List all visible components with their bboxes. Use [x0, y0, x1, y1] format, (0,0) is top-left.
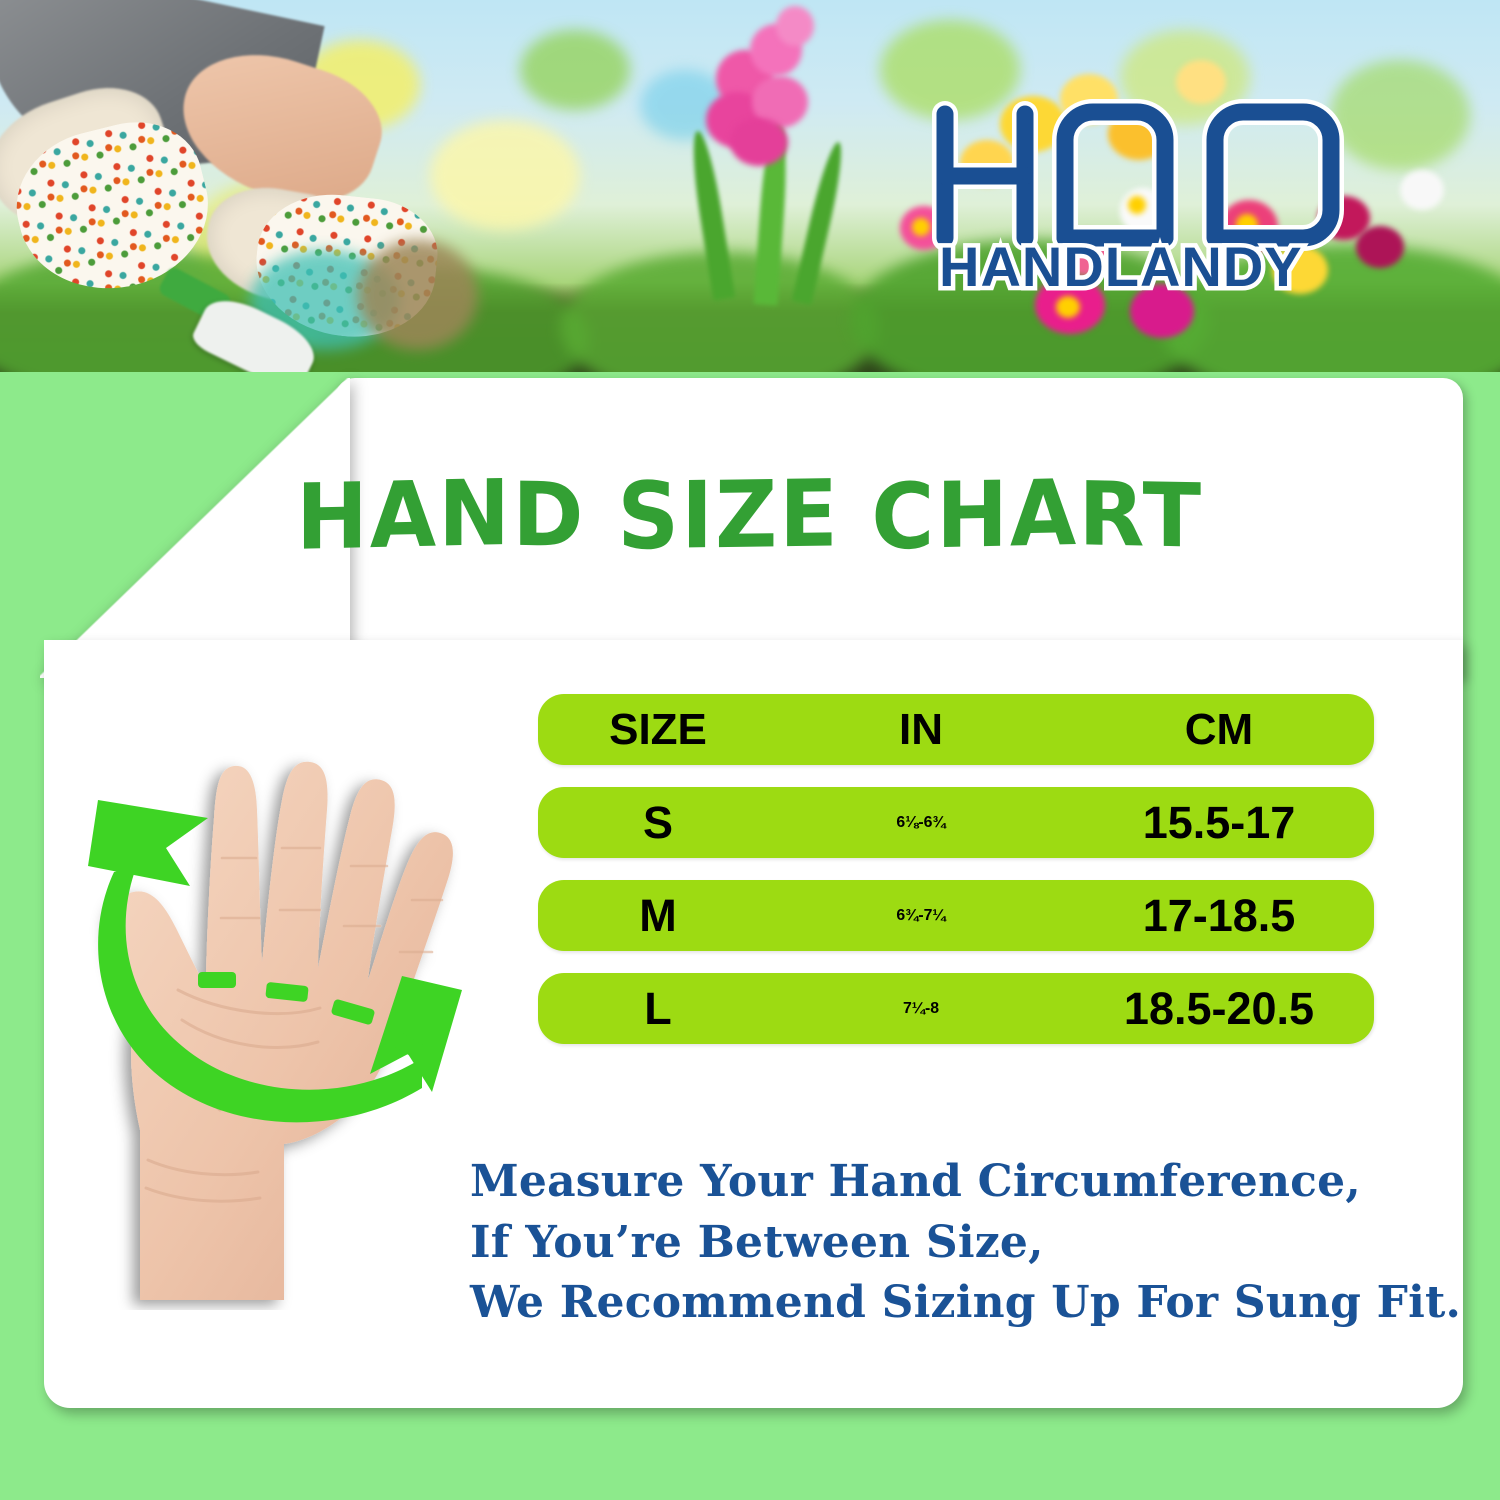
column-header-size: SIZE	[538, 708, 778, 752]
cell-size: L	[538, 986, 778, 1031]
cell-in: 6⅛-6¾	[778, 815, 1064, 831]
note-line-2: If You’re Between Size,	[470, 1213, 1390, 1274]
size-table: SIZE IN CM S 6⅛-6¾ 15.5-17 M 6¾-7¼ 17-18…	[538, 694, 1374, 1066]
cell-in: 6¾-7¼	[778, 908, 1064, 924]
cell-in: 7¼-8	[778, 1001, 1064, 1017]
cell-cm: 15.5-17	[1064, 800, 1374, 845]
cell-size: S	[538, 800, 778, 845]
table-row: L 7¼-8 18.5-20.5	[538, 973, 1374, 1044]
handlandy-logo: HANDLANDY	[915, 88, 1435, 293]
hand-measure-illustration	[70, 690, 470, 1310]
table-row: S 6⅛-6¾ 15.5-17	[538, 787, 1374, 858]
page-title: HAND SIZE CHART HAND SIZE CHART	[0, 466, 1500, 564]
cell-cm: 18.5-20.5	[1064, 986, 1374, 1031]
cell-cm: 17-18.5	[1064, 893, 1374, 938]
note-line-3: We Recommend Sizing Up For Sung Fit.	[470, 1273, 1390, 1334]
hero-photo: HANDLANDY	[0, 0, 1500, 372]
table-header-row: SIZE IN CM	[538, 694, 1374, 765]
logo-wordmark: HANDLANDY	[939, 235, 1303, 293]
cell-size: M	[538, 893, 778, 938]
note-line-1: Measure Your Hand Circumference,	[470, 1152, 1390, 1213]
sizing-note: Measure Your Hand Circumference, If You’…	[470, 1152, 1390, 1334]
size-chart-graphic: HANDLANDY HAND SIZE CHART HAND SIZE CHAR…	[0, 0, 1500, 1500]
table-row: M 6¾-7¼ 17-18.5	[538, 880, 1374, 951]
column-header-cm: CM	[1064, 708, 1374, 752]
column-header-in: IN	[778, 708, 1064, 752]
